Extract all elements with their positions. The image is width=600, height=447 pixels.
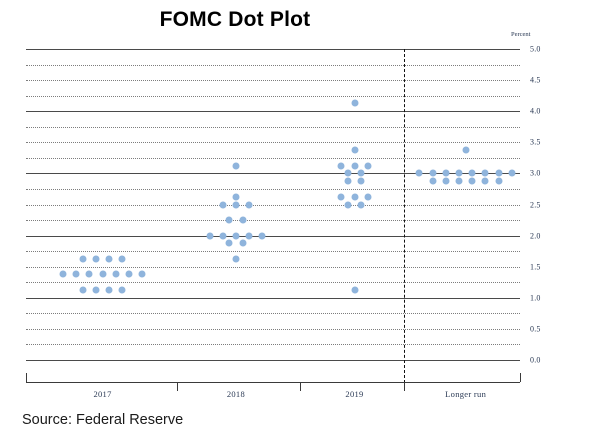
dot-marker — [125, 271, 132, 278]
dot-marker — [106, 287, 113, 294]
dot-marker — [92, 287, 99, 294]
dot-marker — [59, 271, 66, 278]
gridline-minor — [26, 282, 520, 283]
plot-area: 5.04.54.03.53.02.52.01.51.00.50.0 — [26, 49, 520, 360]
dot-marker — [429, 178, 436, 185]
dot-marker — [469, 170, 476, 177]
gridline-minor — [26, 220, 520, 221]
dot-marker — [219, 201, 226, 208]
dot-marker — [351, 287, 358, 294]
dot-marker — [344, 170, 351, 177]
dot-marker — [99, 271, 106, 278]
gridline-major — [26, 49, 520, 50]
dot-marker — [351, 193, 358, 200]
dot-marker — [119, 287, 126, 294]
x-axis-category-label: Longer run — [445, 389, 486, 399]
dot-marker — [351, 100, 358, 107]
gridline-minor — [26, 80, 520, 81]
dot-marker — [246, 201, 253, 208]
dot-marker — [482, 178, 489, 185]
y-axis-tick-label: 1.0 — [530, 293, 541, 302]
dot-marker — [232, 193, 239, 200]
dot-marker — [232, 255, 239, 262]
gridline-minor — [26, 127, 520, 128]
dot-marker — [416, 170, 423, 177]
gridline-minor — [26, 267, 520, 268]
dot-marker — [119, 255, 126, 262]
gridline-minor — [26, 344, 520, 345]
dot-marker — [429, 170, 436, 177]
y-axis-tick-label: 1.5 — [530, 262, 541, 271]
gridline-minor — [26, 158, 520, 159]
gridline-minor — [26, 142, 520, 143]
dot-marker — [508, 170, 515, 177]
dot-marker — [351, 162, 358, 169]
x-axis-tick — [404, 382, 405, 391]
dot-marker — [92, 255, 99, 262]
gridline-minor — [26, 65, 520, 66]
dot-marker — [482, 170, 489, 177]
y-axis-tick-label: 4.5 — [530, 76, 541, 85]
dot-marker — [338, 193, 345, 200]
x-axis-line — [26, 382, 520, 383]
dot-marker — [364, 193, 371, 200]
longer-run-divider — [404, 49, 405, 383]
x-axis-category-label: 2017 — [93, 389, 111, 399]
dot-marker — [226, 217, 233, 224]
dot-marker — [469, 178, 476, 185]
x-axis-tick — [177, 382, 178, 391]
dot-marker — [442, 170, 449, 177]
dot-marker — [112, 271, 119, 278]
dot-marker — [364, 162, 371, 169]
gridline-major — [26, 298, 520, 299]
y-axis-unit-label: Percent — [511, 31, 531, 38]
gridline-major — [26, 236, 520, 237]
dot-marker — [246, 232, 253, 239]
dot-marker — [239, 217, 246, 224]
dot-marker — [239, 240, 246, 247]
dot-marker — [495, 178, 502, 185]
dot-marker — [442, 178, 449, 185]
gridline-minor — [26, 329, 520, 330]
dot-marker — [79, 255, 86, 262]
gridline-minor — [26, 189, 520, 190]
dot-marker — [232, 232, 239, 239]
page-title: FOMC Dot Plot — [0, 8, 470, 32]
y-axis-tick-label: 2.5 — [530, 200, 541, 209]
x-axis-tick — [300, 382, 301, 391]
gridline-minor — [26, 205, 520, 206]
source-note: Source: Federal Reserve — [22, 412, 183, 428]
gridline-minor — [26, 313, 520, 314]
dot-marker — [139, 271, 146, 278]
dot-marker — [358, 170, 365, 177]
y-axis-tick-label: 3.5 — [530, 138, 541, 147]
dot-marker — [358, 201, 365, 208]
dot-marker — [462, 147, 469, 154]
dot-marker — [232, 201, 239, 208]
dot-marker — [338, 162, 345, 169]
dot-marker — [358, 178, 365, 185]
fomc-dot-plot-figure: FOMC Dot Plot Percent 5.04.54.03.53.02.5… — [0, 0, 600, 447]
dot-marker — [344, 201, 351, 208]
y-axis-tick-label: 0.0 — [530, 356, 541, 365]
x-axis-tick — [520, 373, 521, 382]
gridline-major — [26, 111, 520, 112]
dot-marker — [456, 178, 463, 185]
gridline-major — [26, 360, 520, 361]
x-axis-category-label: 2018 — [227, 389, 245, 399]
dot-marker — [344, 178, 351, 185]
dot-marker — [232, 162, 239, 169]
dot-marker — [73, 271, 80, 278]
x-axis-category-label: 2019 — [345, 389, 363, 399]
y-axis-tick-label: 3.0 — [530, 169, 541, 178]
dot-marker — [495, 170, 502, 177]
dot-marker — [206, 232, 213, 239]
y-axis-tick-label: 2.0 — [530, 231, 541, 240]
dot-marker — [79, 287, 86, 294]
dot-marker — [351, 147, 358, 154]
y-axis-tick-label: 0.5 — [530, 324, 541, 333]
dot-marker — [219, 232, 226, 239]
x-axis-tick — [26, 373, 27, 382]
gridline-minor — [26, 251, 520, 252]
dot-marker — [106, 255, 113, 262]
dot-marker — [226, 240, 233, 247]
dot-marker — [259, 232, 266, 239]
dot-marker — [86, 271, 93, 278]
y-axis-tick-label: 4.0 — [530, 107, 541, 116]
y-axis-tick-label: 5.0 — [530, 45, 541, 54]
gridline-minor — [26, 96, 520, 97]
dot-marker — [456, 170, 463, 177]
